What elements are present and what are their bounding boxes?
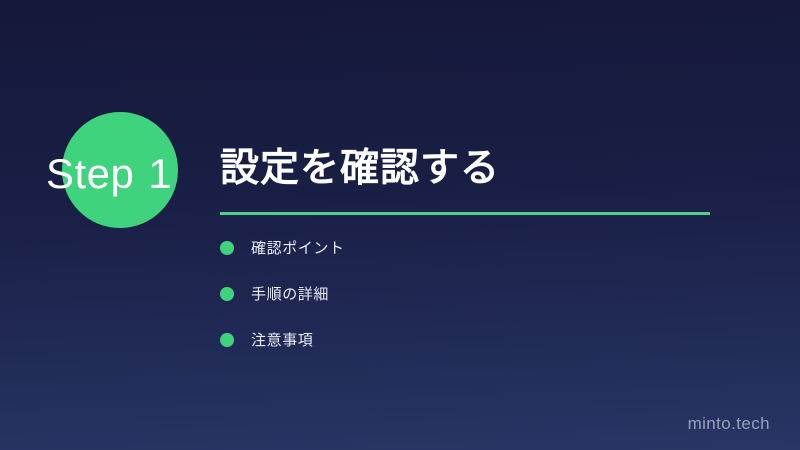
list-item: 注意事項 xyxy=(220,325,700,355)
list-item-label: 手順の詳細 xyxy=(251,287,329,302)
step-number-text: 1 xyxy=(148,153,172,195)
bullet-dot-icon xyxy=(220,333,234,347)
list-item-label: 確認ポイント xyxy=(251,241,345,256)
step-badge-label: Step 1 xyxy=(46,148,172,200)
list-item-label: 注意事項 xyxy=(251,333,313,348)
list-item: 手順の詳細 xyxy=(220,279,700,309)
step-word-text: Step xyxy=(46,153,134,195)
list-item: 確認ポイント xyxy=(220,233,700,263)
bullet-dot-icon xyxy=(220,241,234,255)
title-underline-rule xyxy=(220,212,710,215)
slide-canvas: Step 1 設定を確認する 確認ポイント 手順の詳細 注意事項 minto.t… xyxy=(0,0,800,450)
bullet-dot-icon xyxy=(220,287,234,301)
slide-title: 設定を確認する xyxy=(220,147,500,192)
bullet-list: 確認ポイント 手順の詳細 注意事項 xyxy=(220,233,700,371)
footer-brand-text: minto.tech xyxy=(688,415,770,432)
